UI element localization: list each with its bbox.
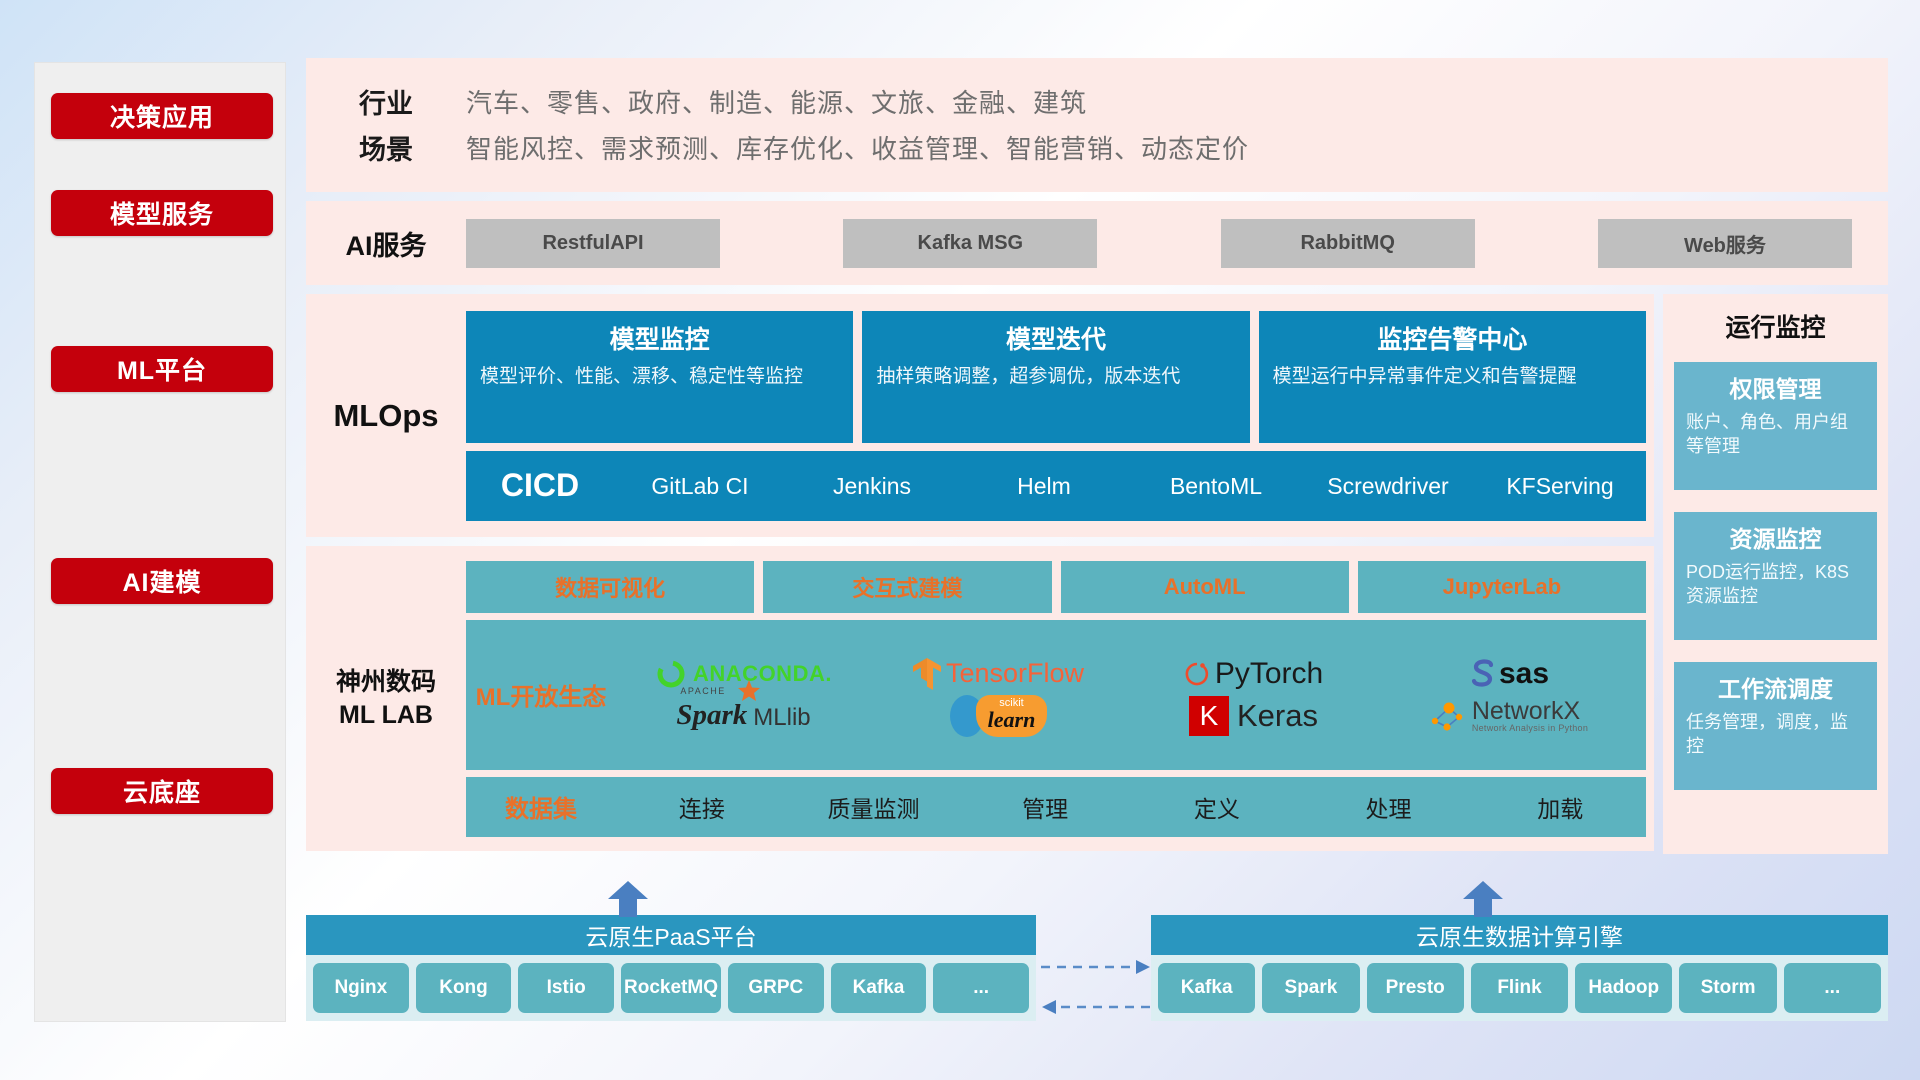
industry-label: 行业 (306, 82, 466, 121)
mlops-card-model-iteration[interactable]: 模型迭代 抽样策略调整，超参调优，版本迭代 (862, 311, 1249, 443)
networkx-mark (1429, 699, 1467, 733)
scenario-row: 场景 智能风控、需求预测、库存优化、收益管理、智能营销、动态定价 (306, 124, 1888, 170)
lab-tool-data-visualization[interactable]: 数据可视化 (466, 561, 754, 613)
cicd-item-screwdriver[interactable]: Screwdriver (1302, 471, 1474, 499)
engine-chip-hadoop[interactable]: Hadoop (1575, 963, 1672, 1013)
cloud-paas-title: 云原生PaaS平台 (306, 915, 1036, 955)
engine-chip-more[interactable]: ... (1784, 963, 1881, 1013)
ml-open-ecosystem-label: ML开放生态 (466, 677, 616, 712)
card-desc: 模型运行中异常事件定义和告警提醒 (1273, 364, 1632, 389)
cicd-item-helm[interactable]: Helm (958, 471, 1130, 499)
monitoring-card-permissions[interactable]: 权限管理 账户、角色、用户组等管理 (1674, 362, 1877, 490)
cloud-paas-group: 云原生PaaS平台 Nginx Kong Istio RocketMQ GRPC… (306, 915, 1036, 1021)
ai-service-button-web[interactable]: Web服务 (1598, 219, 1852, 268)
card-title: 权限管理 (1686, 370, 1865, 404)
card-title: 资源监控 (1686, 520, 1865, 554)
industry-row: 行业 汽车、零售、政府、制造、能源、文旅、金融、建筑 (306, 78, 1888, 124)
cicd-item-jenkins[interactable]: Jenkins (786, 471, 958, 499)
ai-service-label: AI服务 (306, 224, 466, 263)
card-desc: 任务管理，调度，监控 (1686, 710, 1865, 758)
rail-chip-2[interactable]: ML平台 (51, 346, 273, 392)
mllib-wordmark: MLlib (753, 704, 810, 732)
anaconda-mark (655, 658, 687, 690)
engine-chip-kafka[interactable]: Kafka (1158, 963, 1255, 1013)
card-desc: 抽样策略调整，超参调优，版本迭代 (876, 364, 1235, 389)
dataset-item-processing[interactable]: 处理 (1303, 790, 1475, 824)
pytorch-wordmark: PyTorch (1215, 657, 1323, 691)
engine-chip-spark[interactable]: Spark (1262, 963, 1359, 1013)
card-title: 监控告警中心 (1273, 320, 1632, 356)
ml-lab-tools: 数据可视化 交互式建模 AutoML JupyterLab (466, 561, 1646, 613)
ml-lab-label: 神州数码 ML LAB (306, 666, 466, 731)
architecture-main-column: 行业 汽车、零售、政府、制造、能源、文旅、金融、建筑 场景 智能风控、需求预测、… (306, 58, 1888, 860)
card-title: 模型监控 (480, 320, 839, 356)
rail-chip-1[interactable]: 模型服务 (51, 190, 273, 236)
dataset-label: 数据集 (466, 789, 616, 824)
ai-service-buttons: RestfulAPI Kafka MSG RabbitMQ Web服务 (466, 219, 1888, 268)
industry-values: 汽车、零售、政府、制造、能源、文旅、金融、建筑 (466, 83, 1087, 120)
pytorch-logo: PyTorch (1184, 657, 1323, 691)
learn-wordmark: learn (988, 709, 1036, 731)
ml-lab-body: 数据可视化 交互式建模 AutoML JupyterLab ML开放生态 (466, 561, 1654, 837)
dataset-items: 连接 质量监测 管理 定义 处理 加载 (616, 790, 1646, 824)
cloud-engine-title: 云原生数据计算引擎 (1151, 915, 1888, 955)
spark-star-mark (737, 679, 761, 703)
card-desc: 账户、角色、用户组等管理 (1686, 410, 1865, 458)
card-desc: 模型评价、性能、漂移、稳定性等监控 (480, 364, 839, 389)
cicd-item-kfserving[interactable]: KFServing (1474, 471, 1646, 499)
decision-applications-band: 行业 汽车、零售、政府、制造、能源、文旅、金融、建筑 场景 智能风控、需求预测、… (306, 58, 1888, 192)
rail-chip-4[interactable]: 云底座 (51, 768, 273, 814)
cicd-item-bentoml[interactable]: BentoML (1130, 471, 1302, 499)
ai-modeling-band: 神州数码 ML LAB 数据可视化 交互式建模 AutoML JupyterLa… (306, 546, 1654, 851)
mlops-label: MLOps (306, 398, 466, 434)
anaconda-wordmark: ANACONDA. (693, 661, 832, 687)
dataset-item-connect[interactable]: 连接 (616, 790, 788, 824)
mlops-card-model-monitoring[interactable]: 模型监控 模型评价、性能、漂移、稳定性等监控 (466, 311, 853, 443)
cloud-chip-rocketmq[interactable]: RocketMQ (621, 963, 721, 1013)
networkx-wordmark: NetworkX (1472, 699, 1588, 724)
rail-chip-0[interactable]: 决策应用 (51, 93, 273, 139)
mid-left-column: MLOps 模型监控 模型评价、性能、漂移、稳定性等监控 模型迭代 抽样策略调整… (306, 294, 1654, 860)
ai-service-band: AI服务 RestfulAPI Kafka MSG RabbitMQ Web服务 (306, 201, 1888, 285)
keras-logo: K Keras (1189, 696, 1318, 736)
up-arrow-icon-paas (606, 881, 650, 917)
ml-lab-label-line2: ML LAB (306, 699, 466, 732)
cicd-bar: CICD GitLab CI Jenkins Helm BentoML Scre… (466, 451, 1646, 521)
mlops-cards: 模型监控 模型评价、性能、漂移、稳定性等监控 模型迭代 抽样策略调整，超参调优，… (466, 311, 1646, 443)
tensorflow-logo: TensorFlow (913, 657, 1084, 691)
sas-mark (1468, 658, 1498, 690)
networkx-logo: NetworkX Network Analysis in Python (1429, 699, 1588, 733)
keras-mark: K (1189, 696, 1229, 736)
dataset-item-management[interactable]: 管理 (959, 790, 1131, 824)
mid-right-column: 运行监控 权限管理 账户、角色、用户组等管理 资源监控 POD运行监控，K8S资… (1663, 294, 1888, 860)
ai-service-button-rabbitmq[interactable]: RabbitMQ (1221, 219, 1475, 268)
ecosystem-logos: ANACONDA. TensorFlow (616, 653, 1646, 737)
ai-service-button-restfulapi[interactable]: RestfulAPI (466, 219, 720, 268)
apache-tag: APACHE (680, 686, 725, 696)
scenario-label: 场景 (306, 128, 466, 167)
lab-tool-interactive-modeling[interactable]: 交互式建模 (763, 561, 1051, 613)
scenario-values: 智能风控、需求预测、库存优化、收益管理、智能营销、动态定价 (466, 129, 1249, 166)
engine-chip-storm[interactable]: Storm (1679, 963, 1776, 1013)
networkx-tagline: Network Analysis in Python (1472, 724, 1588, 733)
engine-chip-presto[interactable]: Presto (1367, 963, 1464, 1013)
card-desc: POD运行监控，K8S资源监控 (1686, 560, 1865, 608)
dataset-item-definition[interactable]: 定义 (1131, 790, 1303, 824)
sas-wordmark: sas (1499, 657, 1549, 691)
cloud-chip-kafka[interactable]: Kafka (831, 963, 927, 1013)
cloud-chip-more[interactable]: ... (933, 963, 1029, 1013)
lab-tool-jupyterlab[interactable]: JupyterLab (1358, 561, 1646, 613)
cloud-paas-chips: Nginx Kong Istio RocketMQ GRPC Kafka ... (306, 955, 1036, 1021)
card-title: 工作流调度 (1686, 670, 1865, 704)
dataset-item-quality-monitoring[interactable]: 质量监测 (788, 790, 960, 824)
scikit-learn-logo: scikit learn (950, 695, 1048, 737)
dataset-row: 数据集 连接 质量监测 管理 定义 处理 加载 (466, 777, 1646, 837)
up-arrow-icon-engine (1461, 881, 1505, 917)
cicd-items: GitLab CI Jenkins Helm BentoML Screwdriv… (614, 471, 1646, 499)
ml-lab-label-line1: 神州数码 (306, 666, 466, 699)
mid-section: MLOps 模型监控 模型评价、性能、漂移、稳定性等监控 模型迭代 抽样策略调整… (306, 294, 1888, 860)
tensorflow-wordmark: TensorFlow (946, 658, 1084, 689)
dataset-item-loading[interactable]: 加载 (1474, 790, 1646, 824)
cicd-label: CICD (466, 467, 614, 504)
mlops-body: 模型监控 模型评价、性能、漂移、稳定性等监控 模型迭代 抽样策略调整，超参调优，… (466, 311, 1654, 521)
scikit-orange-blob: scikit learn (976, 695, 1048, 737)
cloud-chip-nginx[interactable]: Nginx (313, 963, 409, 1013)
keras-wordmark: Keras (1237, 698, 1318, 734)
cloud-engine-chips: Kafka Spark Presto Flink Hadoop Storm ..… (1151, 955, 1888, 1021)
rail-chip-3[interactable]: AI建模 (51, 558, 273, 604)
mlops-card-alert-center[interactable]: 监控告警中心 模型运行中异常事件定义和告警提醒 (1259, 311, 1646, 443)
lab-tool-automl[interactable]: AutoML (1061, 561, 1349, 613)
bidirectional-link-arrows (1036, 955, 1156, 1025)
layer-rail: 决策应用模型服务ML平台AI建模云底座 (34, 62, 286, 1022)
monitoring-card-resources[interactable]: 资源监控 POD运行监控，K8S资源监控 (1674, 512, 1877, 640)
sas-logo: sas (1468, 657, 1549, 691)
cicd-item-gitlab-ci[interactable]: GitLab CI (614, 471, 786, 499)
runtime-monitoring-title: 运行监控 (1674, 308, 1877, 344)
pytorch-mark (1184, 659, 1210, 689)
runtime-monitoring-band: 运行监控 权限管理 账户、角色、用户组等管理 资源监控 POD运行监控，K8S资… (1663, 294, 1888, 854)
cloud-chip-kong[interactable]: Kong (416, 963, 512, 1013)
cloud-chip-istio[interactable]: Istio (518, 963, 614, 1013)
card-title: 模型迭代 (876, 320, 1235, 356)
ml-open-ecosystem-row: ML开放生态 ANACONDA. (466, 620, 1646, 770)
spark-mllib-logo: APACHE Spark MLlib (676, 699, 810, 732)
cloud-engine-group: 云原生数据计算引擎 Kafka Spark Presto Flink Hadoo… (1151, 915, 1888, 1021)
tensorflow-mark (913, 657, 943, 691)
spark-wordmark: Spark (676, 699, 747, 732)
cloud-base-section: 云原生PaaS平台 Nginx Kong Istio RocketMQ GRPC… (306, 895, 1888, 1045)
cloud-chip-grpc[interactable]: GRPC (728, 963, 824, 1013)
ai-service-button-kafka-msg[interactable]: Kafka MSG (843, 219, 1097, 268)
engine-chip-flink[interactable]: Flink (1471, 963, 1568, 1013)
mlops-band: MLOps 模型监控 模型评价、性能、漂移、稳定性等监控 模型迭代 抽样策略调整… (306, 294, 1654, 537)
monitoring-card-workflow[interactable]: 工作流调度 任务管理，调度，监控 (1674, 662, 1877, 790)
